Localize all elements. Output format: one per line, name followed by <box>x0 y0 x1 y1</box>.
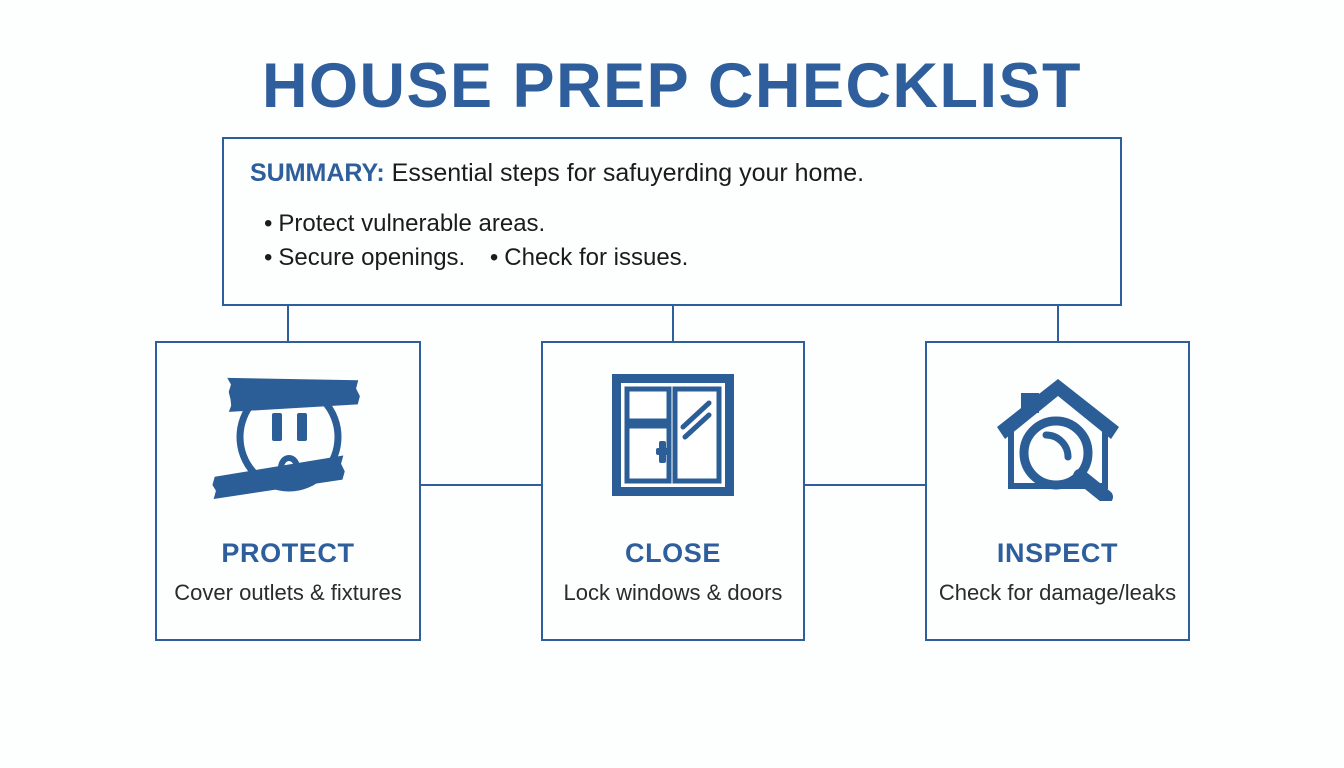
bullet-item: •Check for issues. <box>490 244 688 271</box>
connector-horizontal-close-inspect <box>804 484 926 486</box>
card-inspect[interactable]: INSPECT Check for damage/leaks <box>925 341 1190 641</box>
summary-label: SUMMARY: <box>250 159 385 187</box>
bullet-text: Secure openings. <box>278 244 465 271</box>
card-subtitle-protect: Cover outlets & fixtures <box>157 580 419 606</box>
bullet-text: Check for issues. <box>504 244 688 271</box>
bullet-dot-icon: • <box>264 244 272 271</box>
connector-vertical-inspect <box>1057 306 1059 342</box>
taped-outlet-icon <box>157 365 419 505</box>
card-title-protect: PROTECT <box>157 538 419 569</box>
summary-text: Essential steps for safuyerding your hom… <box>392 159 864 187</box>
summary-bullet-list: •Protect vulnerable areas. •Secure openi… <box>264 207 688 275</box>
connector-vertical-close <box>672 306 674 342</box>
bullet-dot-icon: • <box>264 210 272 237</box>
card-title-inspect: INSPECT <box>927 538 1188 569</box>
summary-headline: SUMMARY: Essential steps for safuyerding… <box>250 159 864 188</box>
bullet-item: •Protect vulnerable areas. <box>264 210 545 237</box>
bullet-row: •Protect vulnerable areas. <box>264 207 688 241</box>
bullet-text: Protect vulnerable areas. <box>278 210 545 237</box>
card-subtitle-close: Lock windows & doors <box>543 580 803 606</box>
bullet-item: •Secure openings. <box>264 244 472 271</box>
window-icon <box>543 365 803 505</box>
house-magnifier-icon <box>927 365 1188 505</box>
bullet-dot-icon: • <box>490 244 498 271</box>
connector-vertical-protect <box>287 306 289 342</box>
card-subtitle-inspect: Check for damage/leaks <box>927 580 1188 606</box>
card-close[interactable]: CLOSE Lock windows & doors <box>541 341 805 641</box>
card-title-close: CLOSE <box>543 538 803 569</box>
page-title: HOUSE PREP CHECKLIST <box>0 50 1344 122</box>
bullet-row: •Secure openings. •Check for issues. <box>264 241 688 275</box>
card-protect[interactable]: PROTECT Cover outlets & fixtures <box>155 341 421 641</box>
connector-horizontal-protect-close <box>420 484 542 486</box>
summary-box: SUMMARY: Essential steps for safuyerding… <box>222 137 1122 306</box>
infographic-canvas: HOUSE PREP CHECKLIST SUMMARY: Essential … <box>0 0 1344 768</box>
